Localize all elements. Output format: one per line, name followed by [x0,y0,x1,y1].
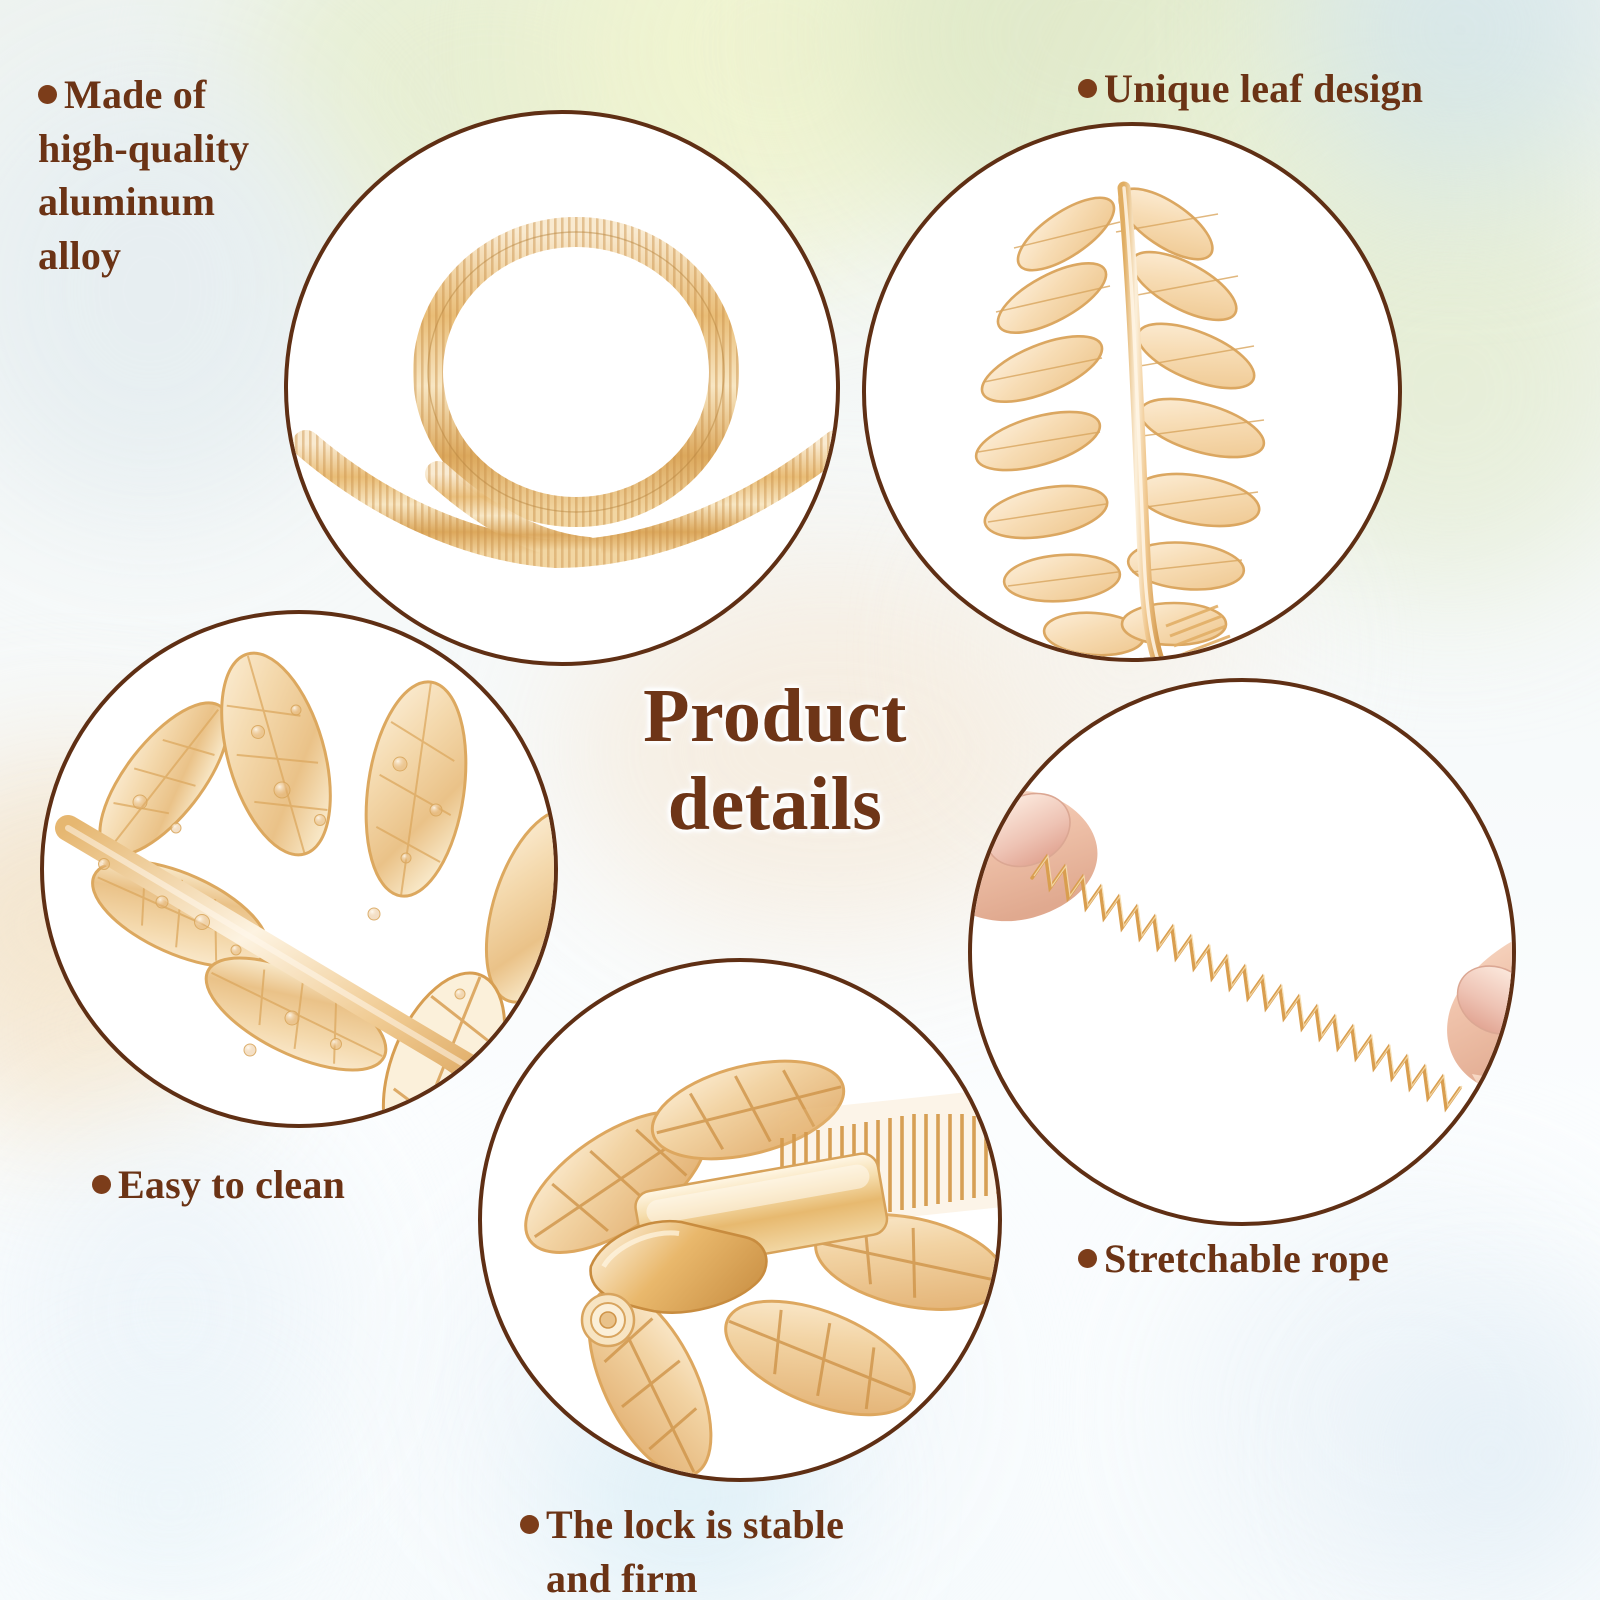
page-title-line-2: details [540,760,1010,848]
feature-label-lock: The lock is stable and firm [520,1498,1040,1600]
coiled-gold-belt-illustration [288,114,840,666]
gold-leaves-closeup-illustration [44,614,558,1128]
page-title: Product details [540,672,1010,848]
feature-label-material-line-3: aluminum [38,179,215,224]
feature-label-clean-text: Easy to clean [118,1162,345,1207]
feature-photo-lock [478,958,1002,1482]
feature-label-material-line-1: Made of [64,72,206,117]
feature-label-material: Made of high-quality aluminum alloy [38,68,368,282]
feature-label-clean: Easy to clean [92,1158,512,1212]
coil-spring [1032,858,1460,1108]
bullet-icon [1078,1249,1097,1268]
feature-label-design-text: Unique leaf design [1104,66,1423,111]
page-title-line-1: Product [540,672,1010,760]
feature-label-material-line-2: high-quality [38,126,249,171]
feature-label-rope-text: Stretchable rope [1104,1236,1389,1281]
hinge-rivet [582,1294,634,1346]
gold-lock-buckle-illustration [482,962,1002,1482]
feature-label-lock-line-1: The lock is stable [546,1502,844,1547]
feature-photo-clean [40,610,558,1128]
feature-label-design: Unique leaf design [1078,62,1598,116]
stretched-coil-spring-illustration [972,682,1516,1226]
feature-label-rope: Stretchable rope [1078,1232,1538,1286]
bullet-icon [38,85,57,104]
bullet-icon [520,1515,539,1534]
feature-label-material-line-4: alloy [38,233,121,278]
feature-photo-design [862,122,1402,662]
gold-leaf-branch-illustration [866,126,1402,662]
infographic-canvas: Product details Made of high-quality alu… [0,0,1600,1600]
bullet-icon [1078,79,1097,98]
bullet-icon [92,1175,111,1194]
feature-photo-rope [968,678,1516,1226]
feature-label-lock-line-2: and firm [546,1556,698,1600]
